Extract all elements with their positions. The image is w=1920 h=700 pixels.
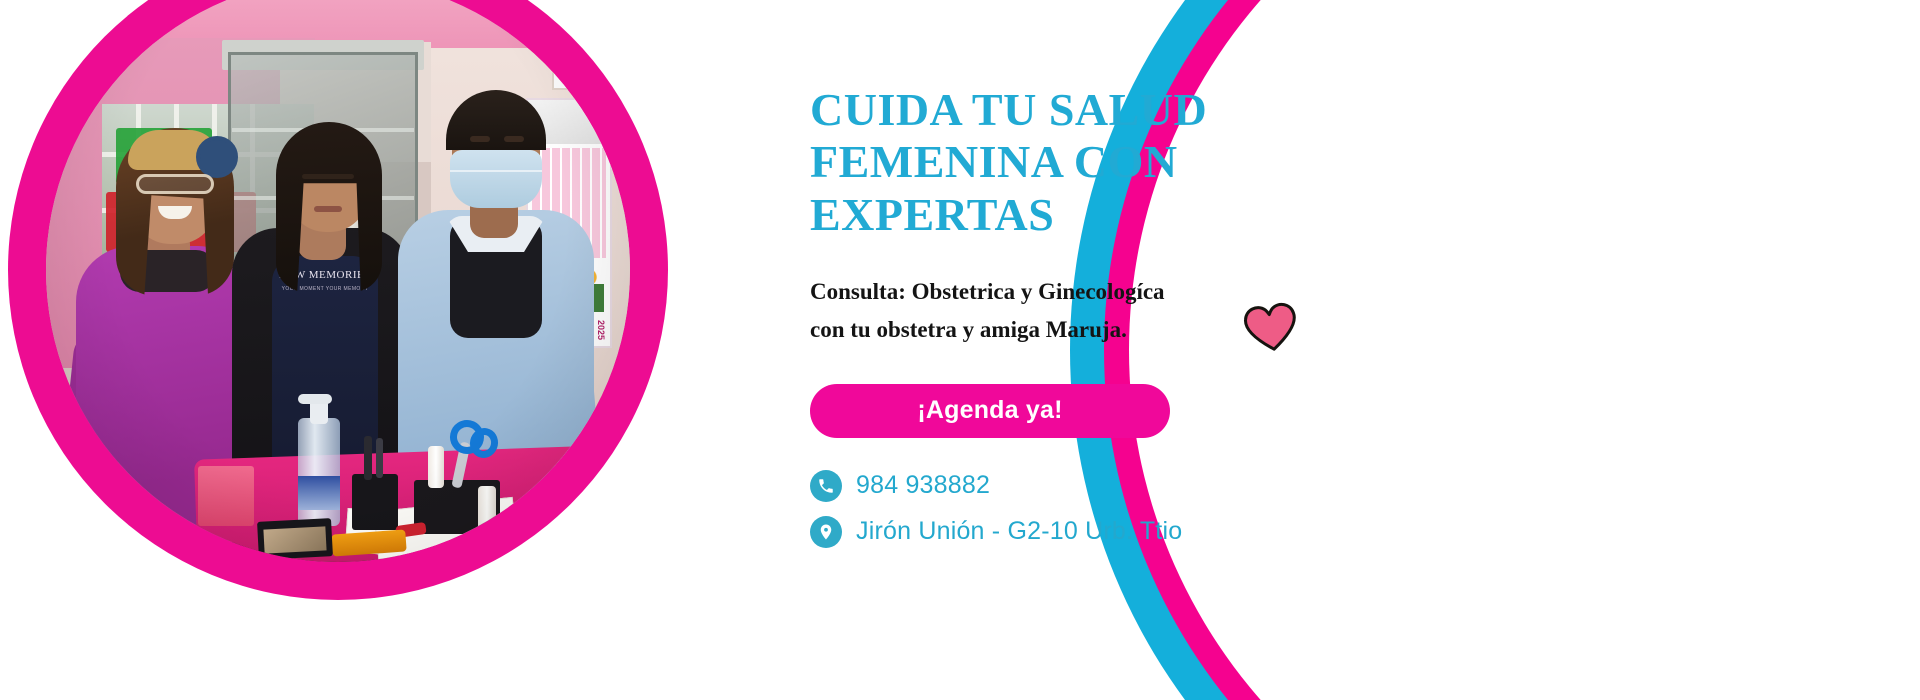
address-text: Jirón Unión - G2-10 Urb. Ttio [856,517,1182,546]
contact-row-address[interactable]: Jirón Unión - G2-10 Urb. Ttio [810,516,1570,548]
promo-banner: 2025 2025 NEW MEMORIES [0,0,1920,700]
clinic-team-photo: 2025 2025 NEW MEMORIES [46,0,630,562]
phone-icon [810,470,842,502]
subtitle-line-1: Consulta: Obstetrica y Ginecologíca [810,273,1310,310]
photo-vignette [46,0,630,562]
phone-number: 984 938882 [856,471,990,500]
page-title: Cuida tu salud femenina con expertas [810,84,1250,241]
contact-list: 984 938882 Jirón Unión - G2-10 Urb. Ttio [810,470,1570,548]
contact-row-phone[interactable]: 984 938882 [810,470,1570,502]
schedule-now-button[interactable]: ¡Agenda ya! [810,384,1170,438]
location-pin-icon [810,516,842,548]
photo-ring-frame: 2025 2025 NEW MEMORIES [8,0,668,600]
subtitle-block: Consulta: Obstetrica y Ginecologíca con … [810,273,1310,348]
heart-icon [1242,301,1300,353]
subtitle-line-2: con tu obstetra y amiga Maruja. [810,311,1310,348]
content-column: Cuida tu salud femenina con expertas Con… [810,84,1570,564]
